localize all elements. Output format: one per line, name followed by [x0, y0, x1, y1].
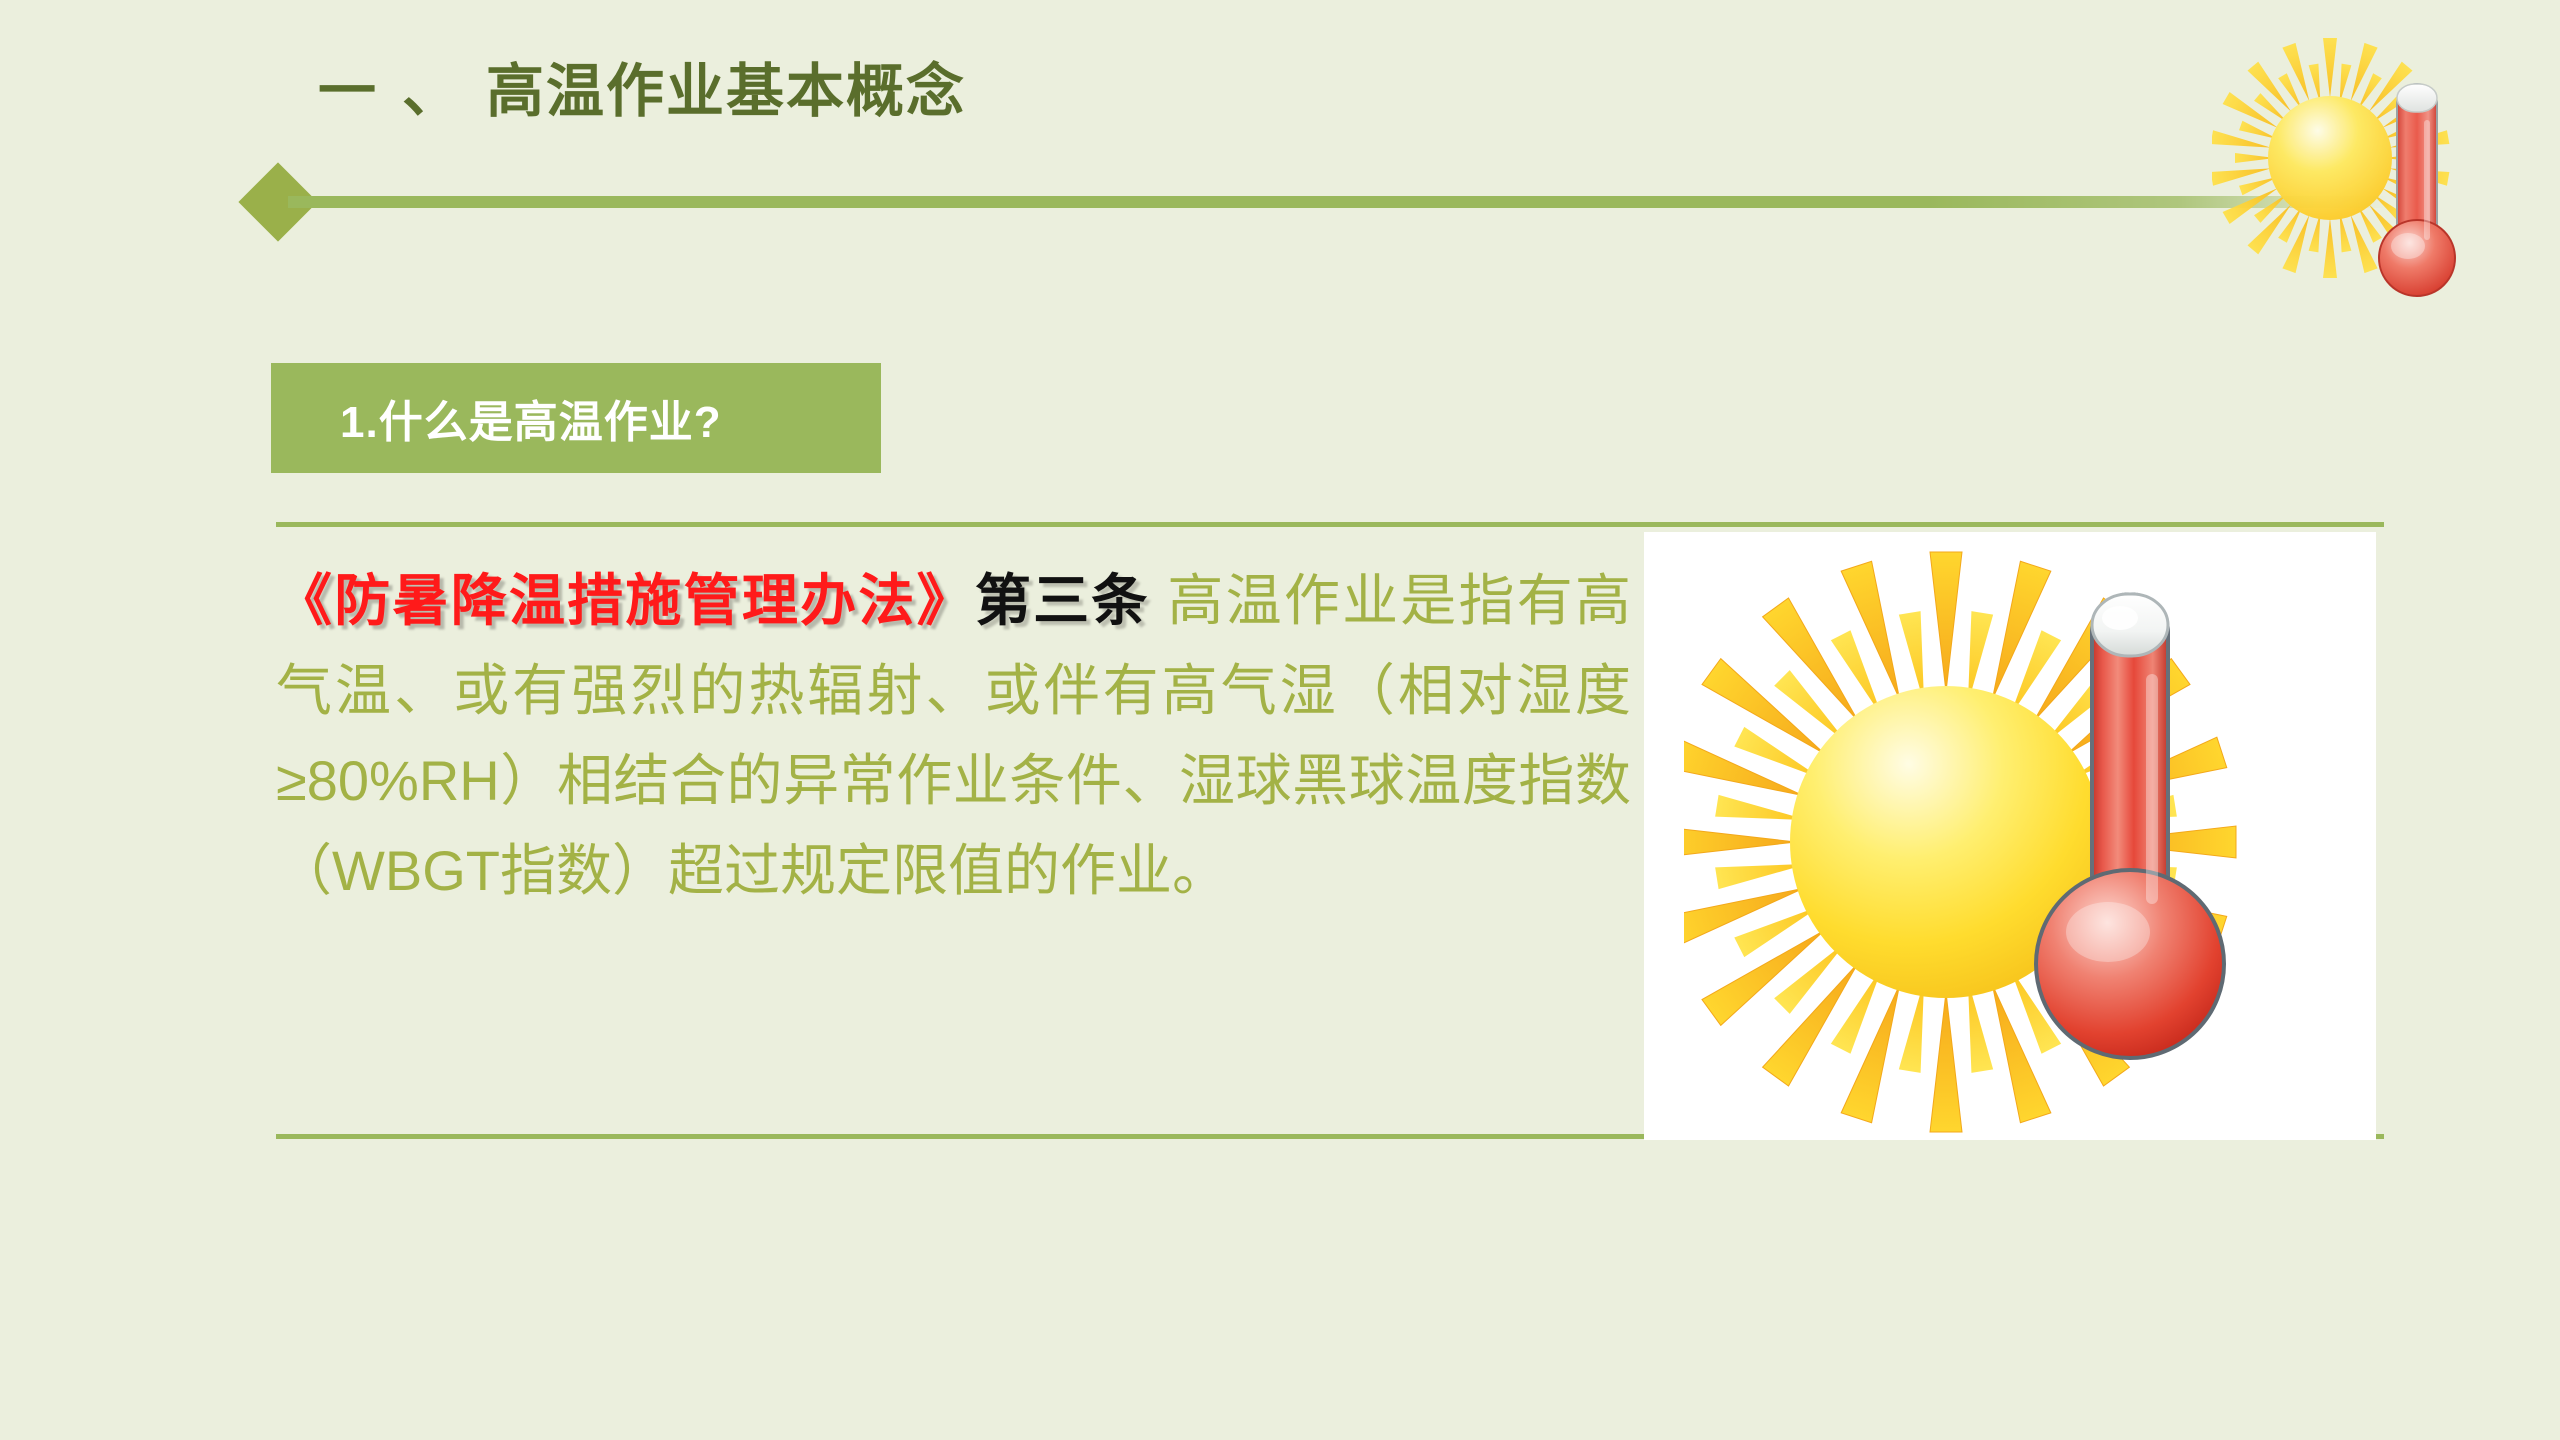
section-label-box: 1.什么是高温作业?: [271, 363, 881, 473]
slide-header: 一、高温作业基本概念: [0, 0, 2560, 240]
sun-thermometer-illustration: [1684, 532, 2324, 1140]
thermometer-icon: [2379, 82, 2455, 296]
body-paragraph: 《防暑降温措施管理办法》第三条 高温作业是指有高气温、或有强烈的热辐射、或伴有高…: [276, 556, 1631, 916]
section-label-text: 1.什么是高温作业?: [271, 386, 722, 450]
page-title: 一、高温作业基本概念: [318, 44, 966, 128]
content-divider-top: [276, 522, 2384, 527]
header-divider-rule: [288, 196, 2388, 208]
sun-thermometer-icon: [2212, 28, 2542, 328]
illustration-panel: [1644, 532, 2376, 1140]
section-number: 一、: [318, 59, 486, 124]
article-number-text: 第三条: [975, 569, 1150, 632]
law-title-text: 《防暑降温措施管理办法》: [276, 569, 975, 632]
section-title-text: 高温作业基本概念: [486, 59, 966, 124]
